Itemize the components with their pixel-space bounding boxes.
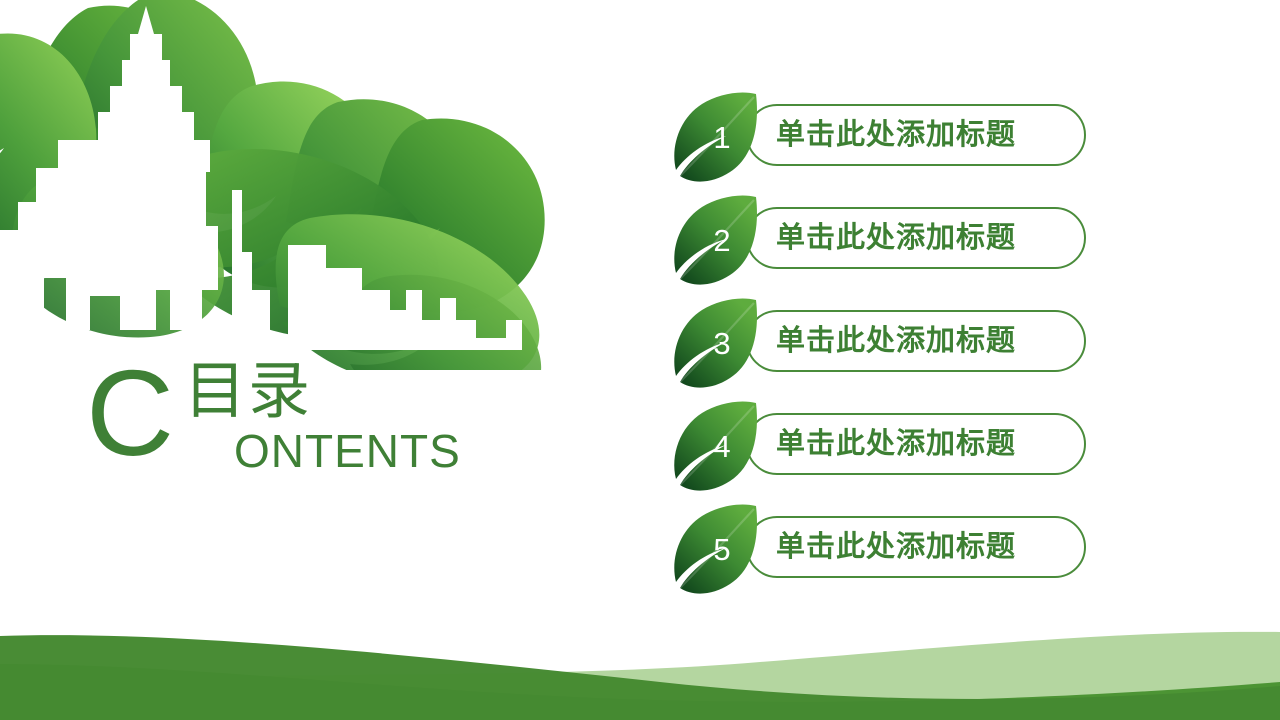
- title-drop-cap: C: [86, 352, 172, 474]
- wave-footer-decoration: [0, 590, 1280, 720]
- list-item[interactable]: 单击此处添加标题 4: [668, 397, 1108, 497]
- list-item-number: 1: [668, 88, 768, 188]
- page-title: C 目录 ONTENTS: [86, 352, 466, 492]
- leaf-city-skyline-illustration: [0, 0, 590, 370]
- list-item-number: 5: [668, 500, 768, 600]
- list-item-label: 单击此处添加标题: [776, 310, 1016, 372]
- list-item[interactable]: 单击此处添加标题 2: [668, 191, 1108, 291]
- list-item-number: 3: [668, 294, 768, 394]
- list-item-label: 单击此处添加标题: [776, 207, 1016, 269]
- title-chinese: 目录: [184, 360, 312, 424]
- list-item-label: 单击此处添加标题: [776, 104, 1016, 166]
- list-item[interactable]: 单击此处添加标题 1: [668, 88, 1108, 188]
- list-item[interactable]: 单击此处添加标题 5: [668, 500, 1108, 600]
- list-item-number: 2: [668, 191, 768, 291]
- list-item[interactable]: 单击此处添加标题 3: [668, 294, 1108, 394]
- list-item-label: 单击此处添加标题: [776, 413, 1016, 475]
- contents-list: 单击此处添加标题 1 单击此处添加标题: [668, 88, 1108, 598]
- list-item-number: 4: [668, 397, 768, 497]
- slide-canvas: C 目录 ONTENTS 单击此处添加标题 1: [0, 0, 1280, 720]
- list-item-label: 单击此处添加标题: [776, 516, 1016, 578]
- title-english: ONTENTS: [234, 427, 461, 475]
